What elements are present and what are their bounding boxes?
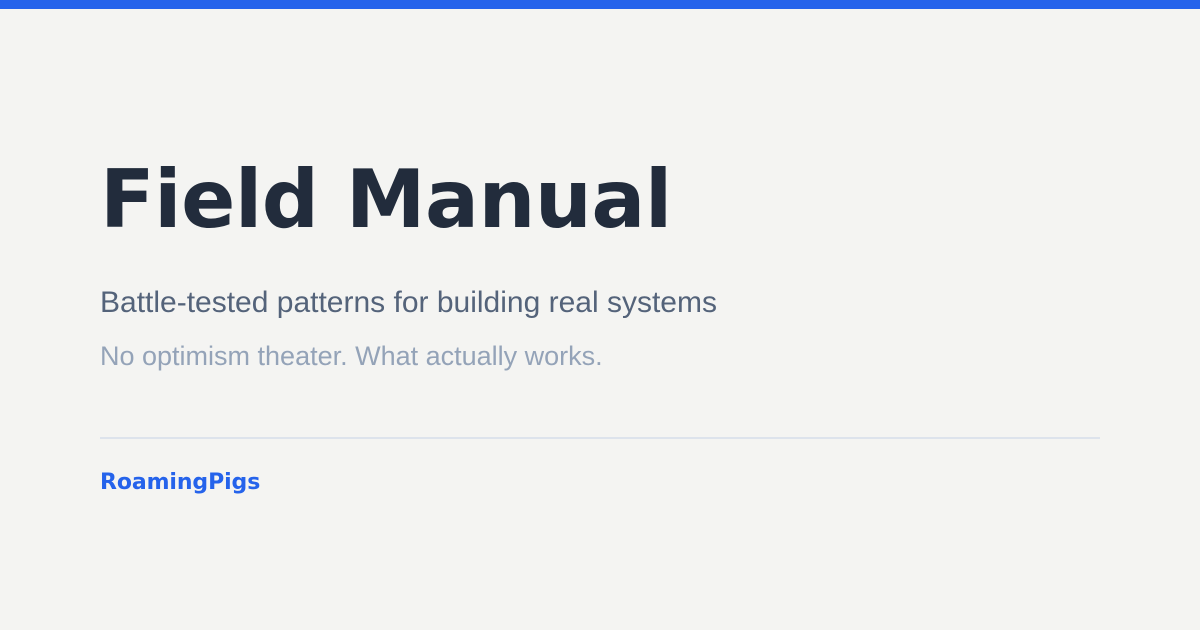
page-subtitle: Battle-tested patterns for building real… — [100, 284, 1100, 322]
page-tagline: No optimism theater. What actually works… — [100, 340, 1100, 374]
footer-divider — [100, 437, 1100, 439]
brand-name[interactable]: RoamingPigs — [100, 470, 260, 495]
page-title: Field Manual — [100, 160, 1100, 240]
card-footer: RoamingPigs — [100, 470, 1100, 495]
hero-content: Field Manual Battle-tested patterns for … — [100, 160, 1100, 373]
og-card: Field Manual Battle-tested patterns for … — [0, 0, 1200, 630]
top-accent-bar — [0, 0, 1200, 9]
